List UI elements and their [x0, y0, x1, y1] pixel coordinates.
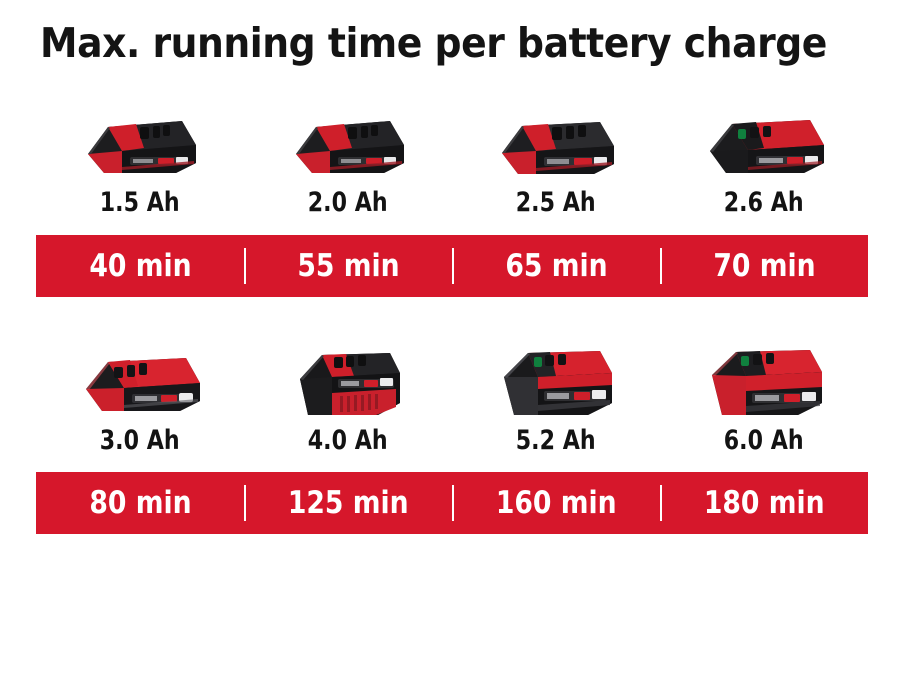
battery-cell-5-2ah: 5.2 Ah [452, 338, 660, 456]
battery-capacity-label: 3.0 Ah [100, 426, 180, 456]
runtime-value: 40 min [89, 249, 191, 283]
battery-capacity-label: 1.5 Ah [100, 188, 180, 218]
battery-pack-icon [486, 345, 626, 423]
page-title: Max. running time per battery charge [40, 18, 805, 68]
battery-pack-icon [694, 107, 834, 185]
battery-capacity-label: 2.6 Ah [724, 188, 804, 218]
runtime-value: 65 min [505, 249, 607, 283]
runtime-value: 125 min [288, 486, 409, 520]
battery-pack-icon [278, 107, 418, 185]
battery-capacity-label: 2.0 Ah [308, 188, 388, 218]
runtime-value: 55 min [297, 249, 399, 283]
battery-pack-icon [694, 345, 834, 423]
runtime-bar-row-2: 80 min 125 min 160 min 180 min [36, 472, 868, 534]
runtime-value: 70 min [713, 249, 815, 283]
battery-cell-2-0ah: 2.0 Ah [244, 100, 452, 218]
battery-row-2: 3.0 Ah [36, 338, 868, 456]
battery-cell-2-6ah: 2.6 Ah [660, 100, 868, 218]
runtime-cell-1-5ah: 40 min [36, 235, 244, 297]
battery-capacity-label: 2.5 Ah [516, 188, 596, 218]
runtime-cell-2-5ah: 65 min [452, 235, 660, 297]
runtime-bar-row-1: 40 min 55 min 65 min 70 min [36, 235, 868, 297]
runtime-value: 160 min [496, 486, 617, 520]
battery-cell-4-0ah: 4.0 Ah [244, 338, 452, 456]
runtime-value: 80 min [89, 486, 191, 520]
battery-pack-icon [486, 107, 626, 185]
battery-cell-6-0ah: 6.0 Ah [660, 338, 868, 456]
runtime-cell-6-0ah: 180 min [660, 472, 868, 534]
battery-capacity-label: 4.0 Ah [308, 426, 388, 456]
runtime-cell-4-0ah: 125 min [244, 472, 452, 534]
battery-cell-1-5ah: 1.5 Ah [36, 100, 244, 218]
battery-pack-icon [278, 345, 418, 423]
runtime-cell-5-2ah: 160 min [452, 472, 660, 534]
battery-capacity-label: 6.0 Ah [724, 426, 804, 456]
battery-cell-3-0ah: 3.0 Ah [36, 338, 244, 456]
battery-cell-2-5ah: 2.5 Ah [452, 100, 660, 218]
runtime-value: 180 min [704, 486, 825, 520]
battery-pack-icon [70, 345, 210, 423]
battery-capacity-label: 5.2 Ah [516, 426, 596, 456]
battery-pack-icon [70, 107, 210, 185]
runtime-cell-2-6ah: 70 min [660, 235, 868, 297]
runtime-cell-2-0ah: 55 min [244, 235, 452, 297]
infographic-page: Max. running time per battery charge [0, 0, 900, 675]
battery-row-1: 1.5 Ah [36, 100, 868, 218]
runtime-cell-3-0ah: 80 min [36, 472, 244, 534]
